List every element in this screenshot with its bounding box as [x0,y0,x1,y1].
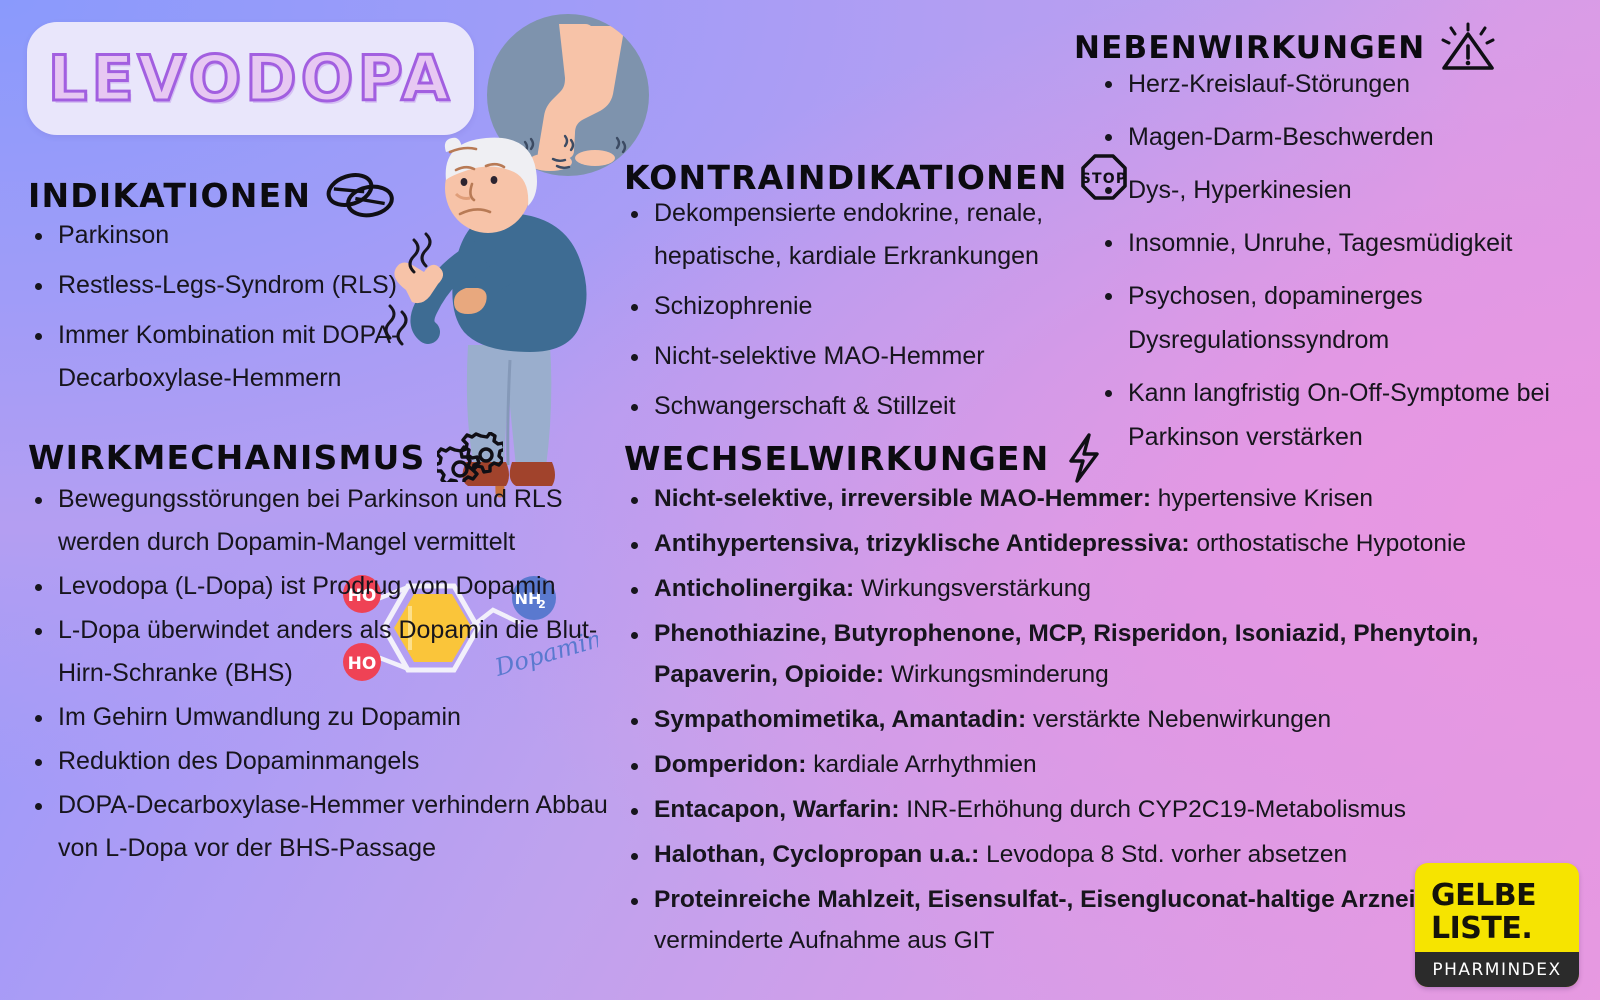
logo-subtitle: PHARMINDEX [1432,960,1561,980]
interaction-effect: INR-Erhöhung durch CYP2C19-Metabolismus [899,796,1406,823]
logo-line-1: GELBE [1431,881,1579,911]
page-title: LEVODOPA [48,42,453,115]
list-item: Kann langfristig On-Off-Symptome bei Par… [1098,371,1590,459]
list-item: Reduktion des Dopaminmangels [28,740,608,783]
gears-icon [437,432,503,482]
heading-wechselwirkungen: WECHSELWIRKUNGEN [624,432,1106,484]
gelbe-liste-logo[interactable]: GELBE LISTE. PHARMINDEX [1415,863,1579,987]
list-item: Insomnie, Unruhe, Tagesmüdigkeit [1098,221,1590,265]
interaction-term: Nicht-selektive, irreversible MAO-Hemmer… [654,485,1151,512]
list-item: Schwangerschaft & Stillzeit [624,385,1084,428]
interaction-term: Domperidon: [654,751,806,778]
list-item: Dys-, Hyperkinesien [1098,168,1590,212]
wirkmechanismus-heading-text: WIRKMECHANISMUS [28,438,425,477]
interaction-term: Sympathomimetika, Amantadin: [654,706,1026,733]
infographic-page: LEVODOPA [0,0,1600,1000]
list-item: Nicht-selektive MAO-Hemmer [624,335,1084,378]
list-item: Herz-Kreislauf-Störungen [1098,62,1590,106]
wechselwirkungen-heading-text: WECHSELWIRKUNGEN [624,439,1050,478]
kontraindikationen-block: Dekompensierte endokrine, renale, hepati… [624,192,1084,435]
interaction-effect: Wirkungsminderung [884,661,1109,688]
logo-subtitle-bar: PHARMINDEX [1415,952,1579,987]
interaction-term: Entacapon, Warfarin: [654,796,899,823]
interaction-term: Halothan, Cyclopropan u.a.: [654,841,979,868]
logo-wordmark: GELBE LISTE. [1415,863,1579,944]
list-item: Dekompensierte endokrine, renale, hepati… [624,192,1084,278]
lightning-bolt-icon [1062,432,1106,484]
kontraindikationen-list: Dekompensierte endokrine, renale, hepati… [624,192,1084,428]
interaction-effect: verstärkte Nebenwirkungen [1026,706,1331,733]
wirkmechanismus-list: Bewegungsstörungen bei Parkinson und RLS… [28,478,608,870]
indikationen-block: ParkinsonRestless-Legs-Syndrom (RLS)Imme… [28,214,508,407]
list-item: Levodopa (L-Dopa) ist Prodrug von Dopami… [28,565,608,608]
list-item: Schizophrenie [624,285,1084,328]
nebenwirkungen-block: Herz-Kreislauf-StörungenMagen-Darm-Besch… [1098,62,1590,468]
interaction-effect: hypertensive Krisen [1151,485,1373,512]
list-item: Magen-Darm-Beschwerden [1098,115,1590,159]
list-item: Parkinson [28,214,508,257]
list-item: Antihypertensiva, trizyklische Antidepre… [624,523,1574,564]
list-item: Phenothiazine, Butyrophenone, MCP, Rispe… [624,613,1574,695]
wirkmechanismus-block: Bewegungsstörungen bei Parkinson und RLS… [28,478,608,871]
list-item: Domperidon: kardiale Arrhythmien [624,744,1574,785]
list-item: DOPA-Decarboxylase-Hemmer verhindern Abb… [28,784,608,870]
list-item: Sympathomimetika, Amantadin: verstärkte … [624,699,1574,740]
indikationen-heading-text: INDIKATIONEN [28,176,311,215]
indikationen-list: ParkinsonRestless-Legs-Syndrom (RLS)Imme… [28,214,508,400]
list-item: Bewegungsstörungen bei Parkinson und RLS… [28,478,608,564]
nebenwirkungen-list: Herz-Kreislauf-StörungenMagen-Darm-Besch… [1098,62,1590,459]
nebenwirkungen-heading-text: NEBENWIRKUNGEN [1074,30,1425,66]
heading-wirkmechanismus: WIRKMECHANISMUS [28,432,503,482]
interaction-effect: Levodopa 8 Std. vorher absetzen [979,841,1347,868]
list-item: L-Dopa überwindet anders als Dopamin die… [28,609,608,695]
logo-line-2: LISTE. [1431,914,1579,944]
interaction-term: Anticholinergika: [654,575,854,602]
tablets-icon [323,172,395,218]
list-item: Immer Kombination mit DOPA-Decarboxylase… [28,314,508,400]
interaction-effect: kardiale Arrhythmien [806,751,1036,778]
list-item: Nicht-selektive, irreversible MAO-Hemmer… [624,478,1574,519]
interaction-effect: Wirkungsverstärkung [854,575,1091,602]
interaction-term: Antihypertensiva, trizyklische Antidepre… [654,530,1190,557]
interaction-term: Proteinreiche Mahlzeit, Eisensulfat-, Ei… [654,886,1489,913]
interaction-effect: orthostatische Hypotonie [1190,530,1466,557]
list-item: Psychosen, dopaminerges Dysregulationssy… [1098,274,1590,362]
list-item: Im Gehirn Umwandlung zu Dopamin [28,696,608,739]
list-item: Anticholinergika: Wirkungsverstärkung [624,568,1574,609]
list-item: Restless-Legs-Syndrom (RLS) [28,264,508,307]
list-item: Entacapon, Warfarin: INR-Erhöhung durch … [624,789,1574,830]
interaction-effect: verminderte Aufnahme aus GIT [654,927,994,954]
title-card: LEVODOPA [27,22,474,135]
kontraindikationen-heading-text: KONTRAINDIKATIONEN [624,158,1068,197]
heading-indikationen: INDIKATIONEN [28,172,395,218]
